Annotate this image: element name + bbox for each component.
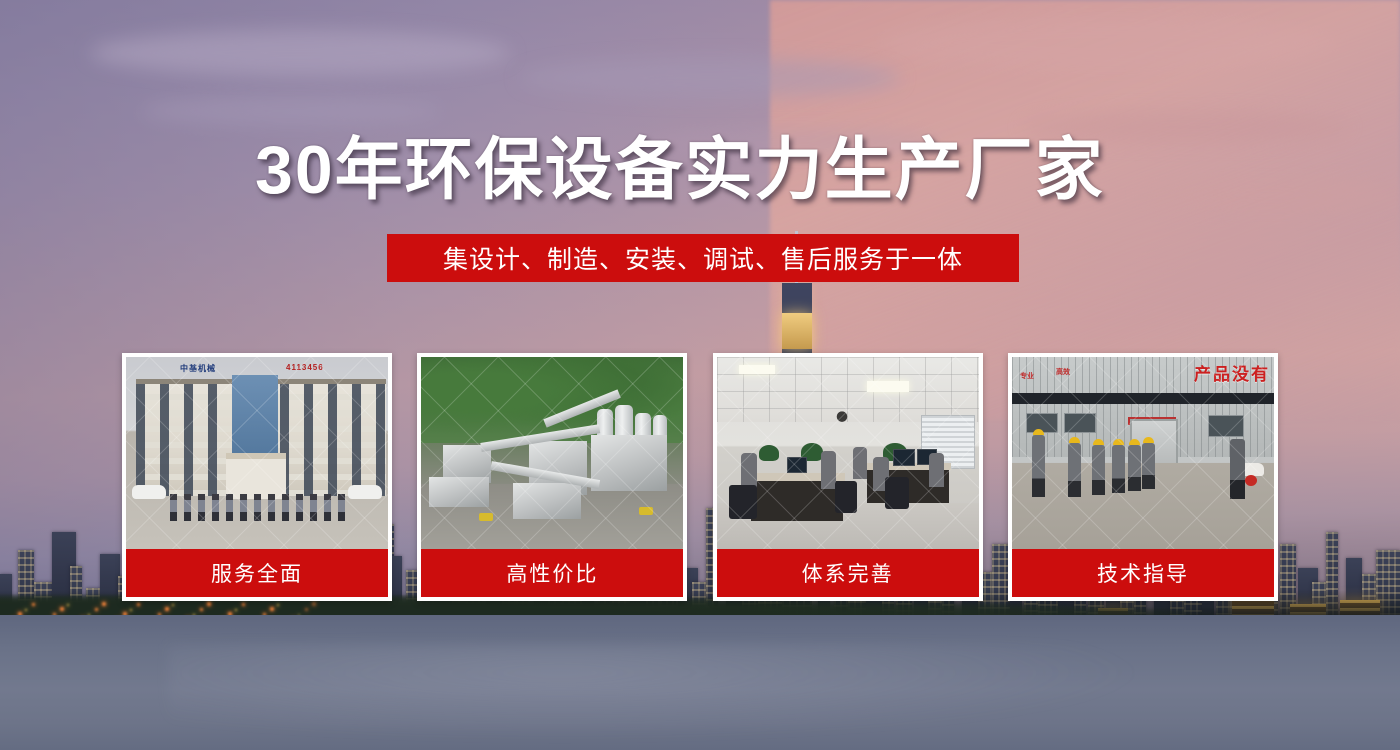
riverbank-light (200, 608, 203, 611)
building-entrance (226, 453, 286, 499)
hard-hat (1093, 439, 1104, 445)
worker (1128, 445, 1141, 491)
tower-crown (782, 313, 812, 349)
feature-card[interactable]: 高性价比 (417, 353, 687, 601)
laptop (787, 457, 807, 473)
staff-person (198, 494, 205, 521)
office-worker (821, 451, 836, 489)
hard-hat (1143, 437, 1154, 443)
card-caption: 高性价比 (421, 549, 683, 597)
riverbank-light (137, 603, 140, 606)
plant-shed (513, 483, 581, 519)
cloud (880, 16, 1340, 70)
wall-window-band (1012, 393, 1274, 404)
factory-yard-photo: 产品没有 专业 高效 (1012, 357, 1274, 549)
feature-card[interactable]: 中基机械 4113456 服务全面 (122, 353, 392, 601)
staff-person (296, 494, 303, 521)
red-hard-hat (1245, 475, 1257, 486)
staff-person (338, 494, 345, 521)
worker (1142, 443, 1155, 489)
potted-plant (759, 445, 779, 461)
factory-slogan-text: 专业 (1020, 371, 1034, 381)
office-worker (929, 453, 944, 487)
monitor (893, 449, 915, 466)
office-chair (729, 485, 757, 519)
company-sign-text: 中基机械 (180, 363, 216, 374)
riverbank-light (60, 607, 64, 611)
office-chair (835, 481, 857, 513)
staff-person (240, 494, 247, 521)
staff-person (324, 494, 331, 521)
ceiling-light (739, 365, 775, 374)
hard-hat (1113, 439, 1124, 445)
staff-person (226, 494, 233, 521)
riverbank-light (277, 604, 279, 606)
card-caption: 体系完善 (717, 549, 979, 597)
staff-person (310, 494, 317, 521)
river (0, 615, 1400, 750)
hard-hat (1069, 437, 1080, 443)
feature-card[interactable]: 体系完善 (713, 353, 983, 601)
riverbank-light (312, 602, 316, 606)
staff-person (268, 494, 275, 521)
staff-person (170, 494, 177, 521)
cloud (1140, 180, 1400, 210)
parked-car (132, 485, 166, 499)
staff-person (282, 494, 289, 521)
riverbank-light (165, 607, 169, 611)
office-worker (741, 453, 757, 489)
riverbank-light (130, 609, 132, 611)
subtitle-banner: 集设计、制造、安装、调试、售后服务于一体 (387, 234, 1019, 282)
phone-number-text: 4113456 (286, 363, 324, 372)
cloud (520, 58, 900, 98)
riverbank-light (95, 608, 98, 611)
riverbank-light (25, 609, 27, 611)
factory-sign-text: 产品没有 (1194, 360, 1270, 385)
subtitle-text: 集设计、制造、安装、调试、售后服务于一体 (443, 240, 963, 276)
riverbank-light (102, 602, 106, 606)
cloud (90, 30, 510, 76)
riverbank-light (67, 604, 69, 606)
ceiling-light (867, 381, 909, 392)
staff-person (254, 494, 261, 521)
staff-person (184, 494, 191, 521)
riverbank-light (207, 602, 211, 606)
water-reflection (168, 644, 1148, 740)
plant-building (591, 435, 667, 491)
wall-logo (829, 407, 855, 431)
worker (1032, 435, 1045, 497)
office-worker (853, 447, 867, 479)
plant-building (429, 477, 489, 507)
parked-car (348, 485, 382, 499)
page-title: 30年环保设备实力生产厂家 (255, 136, 1105, 204)
riverbank-light (32, 603, 35, 606)
riverbank-light (270, 607, 274, 611)
office-chair (885, 477, 909, 509)
factory-slogan-text: 高效 (1056, 367, 1070, 377)
production-plant-photo (421, 357, 683, 549)
factory-window (1208, 415, 1244, 437)
feature-card[interactable]: 产品没有 专业 高效 (1008, 353, 1278, 601)
factory-window (1064, 413, 1096, 433)
riverbank-light (172, 604, 174, 606)
excavator (479, 513, 493, 521)
office-interior-photo (717, 357, 979, 549)
riverbank-light (305, 608, 308, 611)
hard-hat (1129, 439, 1140, 445)
hard-hat (1033, 429, 1044, 435)
card-caption: 服务全面 (126, 549, 388, 597)
promo-banner: 30年环保设备实力生产厂家 集设计、制造、安装、调试、售后服务于一体 中基机械 … (0, 0, 1400, 750)
excavator (639, 507, 653, 515)
riverbank-light (235, 609, 237, 611)
worker (1068, 443, 1081, 497)
feature-card-list: 中基机械 4113456 服务全面 (122, 353, 1278, 601)
worker (1092, 445, 1105, 495)
cloud (140, 96, 440, 126)
company-headquarters-photo: 中基机械 4113456 (126, 357, 388, 549)
card-caption: 技术指导 (1012, 549, 1274, 597)
riverbank-light (242, 603, 245, 606)
staff-person (212, 494, 219, 521)
worker (1112, 445, 1125, 493)
supervisor (1230, 439, 1245, 499)
